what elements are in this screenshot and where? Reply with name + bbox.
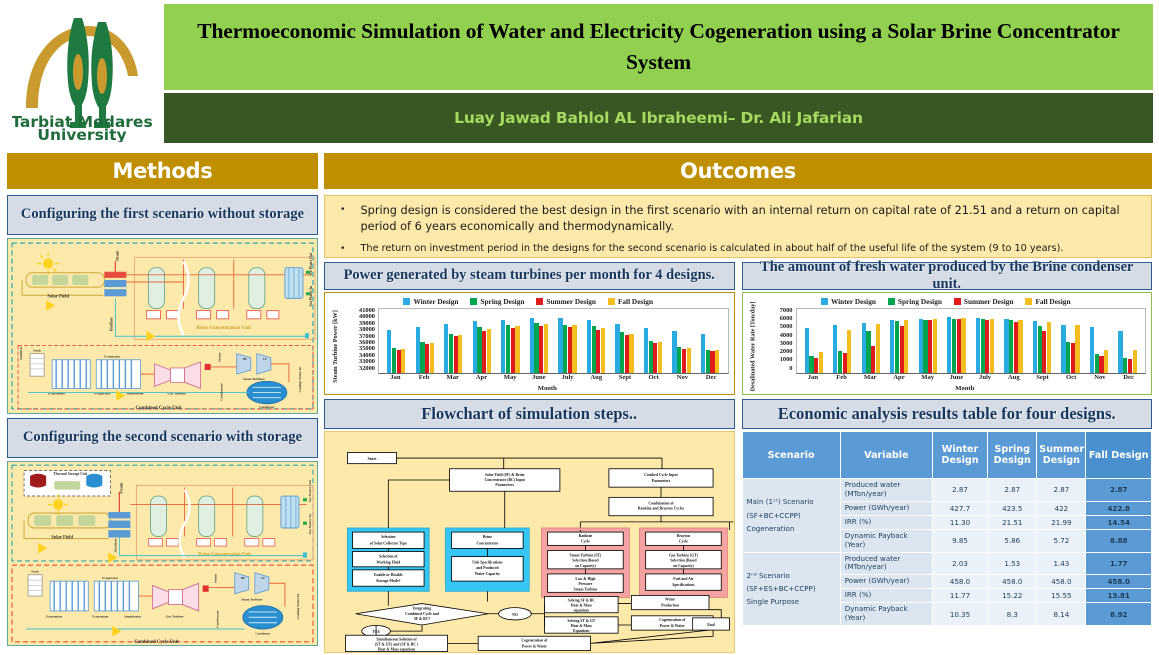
outcomes-heading: Outcomes [680, 159, 796, 183]
svg-text:Superheater: Superheater [124, 614, 141, 618]
svg-text:Gas Turbine: Gas Turbine [166, 614, 184, 618]
bar [534, 323, 538, 373]
bar [544, 324, 548, 373]
svg-text:Solving SF & BC: Solving SF & BC [568, 599, 596, 603]
bar [501, 320, 505, 373]
water-chart-title-text: The amount of fresh water produced by th… [749, 259, 1146, 293]
bar-group [672, 309, 690, 373]
svg-text:Production: Production [661, 604, 680, 608]
svg-text:Steam Turbine: Steam Turbine [574, 587, 598, 591]
svg-text:Condensate: Condensate [216, 610, 220, 628]
summer-value-cell: 8.14 [1037, 603, 1086, 626]
scenario-line: Main (1ˢᵗ) Scenario [747, 495, 836, 508]
ytick-label: 1000 [780, 357, 793, 363]
bar-group [833, 309, 851, 373]
svg-text:Sea Water In: Sea Water In [309, 286, 313, 306]
flowchart-body: .fbx { fill:#fff; stroke:#000; stroke-wi… [324, 431, 735, 653]
svg-text:Cogeneration of: Cogeneration of [521, 638, 548, 642]
spring-value-cell: 5.86 [988, 529, 1037, 552]
svg-text:Combined Cycle Unit: Combined Cycle Unit [135, 405, 181, 411]
fall-value-cell: 8.92 [1086, 603, 1152, 626]
spring-value-cell: 8.3 [988, 603, 1037, 626]
bar [425, 344, 429, 373]
xtick-label: Sept [611, 374, 640, 385]
ytick-label: 7000 [780, 308, 793, 314]
bar [701, 334, 705, 373]
xtick-label: June [942, 374, 971, 385]
bar [1047, 322, 1051, 373]
scenario-2-diagram-icon: Thermal Storage Unit Solar Field [8, 462, 317, 645]
bar [819, 352, 823, 373]
svg-text:Evaporator: Evaporator [104, 355, 121, 359]
xtick-label: Mar [438, 374, 467, 385]
bar [515, 326, 519, 373]
bar [1033, 321, 1037, 373]
svg-text:Solar Field: Solar Field [47, 294, 69, 299]
scenario-line: (SF+ES+BC+CCPP) [747, 582, 836, 595]
svg-text:Power & Water: Power & Water [522, 645, 547, 649]
svg-text:Solar Field (SF) & Brine: Solar Field (SF) & Brine [485, 473, 525, 477]
bar-group [862, 309, 880, 373]
scenario-line: 2ⁿᵈ Scenario [747, 569, 836, 582]
legend-item-1: Spring Design [470, 297, 524, 306]
winter-value-cell: 2.87 [932, 479, 987, 502]
power-chart-plotcol: JanFebMarAprMayJuneJulyAugSeptOctNovDec [378, 308, 729, 385]
svg-text:Heat & Mass: Heat & Mass [571, 624, 593, 628]
svg-text:Brine Concentration Unit: Brine Concentration Unit [198, 553, 251, 558]
water-chart-legend: Winter DesignSpring DesignSummer DesignF… [746, 296, 1147, 308]
bar [990, 319, 994, 373]
table-header-row: Scenario Variable Winter Design Spring D… [742, 432, 1152, 479]
bullet-marker-icon: • [337, 242, 345, 257]
water-chart-plot-wrap: Desalinated Water Rate [Ton/day] 7000600… [746, 308, 1147, 385]
bar [710, 351, 714, 373]
col-summer-design: Summer Design [1037, 432, 1086, 479]
summer-value-cell: 21.99 [1037, 515, 1086, 529]
ytick-label: 32000 [359, 366, 375, 372]
bar [563, 325, 567, 373]
bar-group [587, 309, 605, 373]
svg-text:Combination of: Combination of [648, 502, 674, 506]
svg-text:Parameters: Parameters [495, 483, 514, 487]
bar [392, 348, 396, 373]
bar [420, 342, 424, 373]
econ-table-title: Economic analysis results table for four… [742, 399, 1153, 429]
legend-swatch-icon [821, 298, 828, 305]
bar-group [701, 309, 719, 373]
bar [629, 334, 633, 373]
bar-group [473, 309, 491, 373]
bar [928, 320, 932, 373]
bar [890, 320, 894, 373]
summer-value-cell: 15.55 [1037, 589, 1086, 603]
col-spring-design: Spring Design [988, 432, 1037, 479]
svg-text:Stack: Stack [31, 570, 39, 574]
bar [644, 328, 648, 373]
svg-text:Solving ST & GT: Solving ST & GT [567, 619, 595, 623]
water-chart-ylabel-text: Desalinated Water Rate [Ton/day] [749, 302, 756, 392]
bar [1099, 356, 1103, 373]
poster-header: Tarbiat Modares University Thermoeconomi… [0, 0, 1159, 148]
bar [477, 327, 481, 373]
xtick-label: Nov [1086, 374, 1115, 385]
svg-text:Brine: Brine [483, 535, 492, 539]
bar-group [444, 309, 462, 373]
legend-label: Fall Design [1035, 297, 1070, 306]
variable-cell: Dynamic Payback (Year) [840, 529, 932, 552]
section-bar-methods: Methods [7, 153, 318, 189]
bar-group [919, 309, 937, 373]
svg-text:Sea Water Out: Sea Water Out [308, 479, 312, 503]
bar [876, 324, 880, 373]
svg-text:Solar Field: Solar Field [51, 536, 73, 541]
variable-cell: IRR (%) [840, 515, 932, 529]
section-bar-outcomes: Outcomes [324, 153, 1152, 189]
bar [653, 343, 657, 373]
svg-text:Equations: Equations [573, 629, 590, 633]
bar-group [1118, 309, 1136, 373]
svg-text:Thermal Storage Unit: Thermal Storage Unit [53, 472, 88, 476]
bar [947, 317, 951, 373]
svg-text:Heat & Mass: Heat & Mass [571, 604, 593, 608]
bar [900, 326, 904, 373]
svg-text:Pressure: Pressure [578, 582, 592, 586]
water-chart-ylabel: Desalinated Water Rate [Ton/day] [746, 308, 760, 385]
methods-column: Configuring the first scenario without s… [7, 195, 318, 646]
svg-text:NO: NO [512, 613, 518, 617]
bar [976, 318, 980, 373]
svg-text:Storage Mode?: Storage Mode? [376, 579, 400, 583]
svg-text:Combed Cycle Input: Combed Cycle Input [644, 473, 678, 477]
svg-text:Condenser: Condenser [255, 631, 270, 635]
col-fall-design: Fall Design [1086, 432, 1152, 479]
svg-text:Working Fluid: Working Fluid [376, 561, 401, 565]
water-chart-plot [796, 308, 1147, 374]
spring-value-cell: 458.0 [988, 575, 1037, 589]
bar [511, 328, 515, 373]
fall-value-cell: 458.0 [1086, 575, 1152, 589]
econ-table-rows: Main (1ˢᵗ) Scenario(SF+BC+CCPP)Cogenerat… [742, 479, 1152, 626]
svg-text:Distillate: Distillate [109, 317, 113, 331]
bar [587, 320, 591, 373]
bar-group [615, 309, 633, 373]
bar [658, 342, 662, 373]
svg-text:on Capacity): on Capacity) [673, 564, 694, 568]
ytick-label: 4000 [780, 333, 793, 339]
water-chart-xlabels: JanFebMarAprMayJuneJulyAugSeptOctNovDec [796, 374, 1147, 385]
xtick-label: Apr [885, 374, 914, 385]
svg-text:Brine Concentration Unit: Brine Concentration Unit [196, 325, 251, 331]
svg-text:SF & BC?: SF & BC? [414, 617, 431, 621]
title-stack: Thermoeconomic Simulation of Water and E… [158, 4, 1153, 148]
outcomes-bullet-list: • Spring design is considered the best d… [324, 195, 1152, 258]
xtick-label: Mar [856, 374, 885, 385]
svg-text:Steam: Steam [114, 250, 119, 262]
bar [449, 334, 453, 373]
water-chart-area: Winter DesignSpring DesignSummer DesignF… [742, 292, 1153, 395]
ytick-label: 0 [789, 366, 792, 372]
bar [1095, 354, 1099, 373]
svg-text:Selection: Selection [381, 535, 396, 539]
legend-swatch-icon [403, 298, 410, 305]
winter-value-cell: 427.7 [932, 501, 987, 515]
econ-table-body: Scenario Variable Winter Design Spring D… [742, 431, 1153, 653]
svg-text:Distillate: Distillate [19, 346, 23, 360]
winter-value-cell: 2.03 [932, 552, 987, 575]
methods-panel-2-title-text: Configuring the second scenario with sto… [23, 429, 302, 446]
xtick-label: Oct [639, 374, 668, 385]
svg-text:LP: LP [261, 576, 265, 580]
scenario-cell: Main (1ˢᵗ) Scenario(SF+BC+CCPP)Cogenerat… [742, 479, 840, 552]
bar [677, 347, 681, 373]
scenario-1-diagram-icon: Solar Field Steam [8, 239, 317, 413]
bar [715, 350, 719, 373]
bar [1066, 342, 1070, 373]
power-chart-ylabel-text: Steam Turbine Power [kW] [332, 310, 339, 383]
variable-cell: Power (GWh/year) [840, 575, 932, 589]
ytick-label: 3000 [780, 341, 793, 347]
bar-group [558, 309, 576, 373]
xtick-label: Feb [410, 374, 439, 385]
variable-cell: IRR (%) [840, 589, 932, 603]
legend-label: Fall Design [618, 297, 653, 306]
scenario-1-schematic: Solar Field Steam [7, 238, 318, 414]
svg-text:Economizer: Economizer [92, 614, 109, 618]
legend-label: Summer Design [964, 297, 1014, 306]
bar [430, 343, 434, 373]
svg-text:Economizer: Economizer [46, 614, 63, 618]
poster-root: Tarbiat Modares University Thermoeconomi… [0, 0, 1159, 655]
bar-group [501, 309, 519, 373]
svg-text:Steam Turbines: Steam Turbines [243, 377, 266, 381]
svg-text:Concentrator (BC) Input: Concentrator (BC) Input [485, 478, 526, 482]
spring-value-cell: 15.22 [988, 589, 1037, 603]
bar [601, 328, 605, 374]
svg-text:(ST & GT) and (SF & BC ): (ST & GT) and (SF & BC ) [375, 642, 419, 646]
poster-title-bar: Thermoeconomic Simulation of Water and E… [164, 4, 1153, 90]
legend-item-3: Fall Design [1025, 297, 1070, 306]
bullet-marker-icon: • [337, 203, 345, 235]
table-row: 2ⁿᵈ Scenario(SF+ES+BC+CCPP)Single Purpos… [742, 552, 1152, 575]
svg-text:Water Capacity: Water Capacity [475, 572, 500, 576]
svg-text:Cycle: Cycle [581, 539, 590, 543]
power-chart-ylabel: Steam Turbine Power [kW] [328, 308, 342, 385]
svg-text:Cogeneration of: Cogeneration of [659, 618, 686, 622]
svg-text:Rankine and Brayton Cycles: Rankine and Brayton Cycles [638, 507, 685, 511]
bar [961, 318, 965, 373]
bar [847, 330, 851, 373]
svg-text:Simultaneous Solution of: Simultaneous Solution of [376, 637, 417, 641]
methods-panel-1-title: Configuring the first scenario without s… [7, 195, 318, 235]
svg-text:Selection (Based: Selection (Based [572, 559, 599, 563]
bar [444, 324, 448, 373]
legend-swatch-icon [608, 298, 615, 305]
xtick-label: July [971, 374, 1000, 385]
bar [568, 327, 572, 373]
legend-label: Winter Design [831, 297, 876, 306]
svg-text:HP: HP [241, 576, 245, 580]
bar [649, 341, 653, 373]
col-winter-design: Winter Design [932, 432, 987, 479]
bar-group [947, 309, 965, 373]
legend-swatch-icon [536, 298, 543, 305]
water-chart-card: The amount of fresh water produced by th… [742, 262, 1153, 395]
svg-text:Integrating: Integrating [413, 607, 431, 611]
legend-item-3: Fall Design [608, 297, 653, 306]
tarbiat-modares-logo-icon: Tarbiat Modares University [12, 10, 152, 142]
col-scenario: Scenario [742, 432, 840, 479]
outcomes-column: • Spring design is considered the best d… [324, 195, 1152, 646]
svg-text:Selection (Based: Selection (Based [670, 559, 697, 563]
summer-value-cell: 1.43 [1037, 552, 1086, 575]
page-title: Thermoeconomic Simulation of Water and E… [182, 16, 1135, 77]
bar [1118, 331, 1122, 373]
bar [615, 324, 619, 373]
svg-text:Evaporator: Evaporator [102, 576, 118, 580]
svg-text:Specifications: Specifications [672, 583, 695, 587]
svg-text:Brayton: Brayton [677, 534, 691, 538]
bar [1090, 327, 1094, 373]
svg-text:on Capacity): on Capacity) [575, 564, 596, 568]
section-header-row: Methods Outcomes [0, 148, 1159, 192]
bar-group [416, 309, 434, 373]
svg-text:Heat & Mass equations: Heat & Mass equations [378, 648, 416, 652]
scenario-cell: 2ⁿᵈ Scenario(SF+ES+BC+CCPP)Single Purpos… [742, 552, 840, 625]
water-chart-yticks: 70006000500040003000200010000 [760, 308, 796, 385]
svg-text:Steam: Steam [118, 482, 123, 494]
bar [1014, 322, 1018, 373]
bar [672, 331, 676, 374]
xtick-label: May [496, 374, 525, 385]
xtick-label: July [553, 374, 582, 385]
variable-cell: Produced water (MTon/year) [840, 552, 932, 575]
bar-group [1004, 309, 1022, 373]
fall-value-cell: 8.88 [1086, 529, 1152, 552]
bar [458, 335, 462, 373]
svg-text:Rankine: Rankine [579, 534, 593, 538]
bar [539, 326, 543, 373]
variable-cell: Produced water (MTon/year) [840, 479, 932, 502]
winter-value-cell: 11.30 [932, 515, 987, 529]
bar [866, 331, 870, 373]
legend-item-0: Winter Design [403, 297, 458, 306]
scenario-line: Single Purpose [747, 595, 836, 608]
svg-text:Concentrator: Concentrator [477, 541, 499, 545]
bar [1071, 343, 1075, 374]
scenario-line: (SF+BC+CCPP) [747, 509, 836, 522]
fall-value-cell: 422.8 [1086, 501, 1152, 515]
bar [1075, 325, 1079, 373]
legend-item-1: Spring Design [888, 297, 942, 306]
bar [904, 320, 908, 373]
spring-value-cell: 423.5 [988, 501, 1037, 515]
power-chart-card: Power generated by steam turbines per mo… [324, 262, 735, 395]
methods-heading: Methods [113, 159, 213, 183]
author-names: Luay Jawad Bahlol AL Ibraheemi– Dr. Ali … [454, 109, 863, 127]
svg-text:Distillate: Distillate [113, 538, 117, 552]
svg-text:HP: HP [243, 357, 247, 361]
svg-text:Start: Start [367, 456, 377, 461]
summer-value-cell: 458.0 [1037, 575, 1086, 589]
svg-text:Steam: Steam [214, 574, 218, 584]
bar [952, 319, 956, 374]
winter-value-cell: 11.77 [932, 589, 987, 603]
svg-text:Steam Turbines: Steam Turbines [241, 597, 263, 601]
bar [1104, 350, 1108, 373]
fall-value-cell: 13.81 [1086, 589, 1152, 603]
svg-text:Sea Water Out: Sea Water Out [309, 252, 313, 276]
flowchart-card: Flowchart of simulation steps.. .fbx { f… [324, 399, 735, 653]
legend-label: Winter Design [413, 297, 458, 306]
xtick-label: Aug [582, 374, 611, 385]
bar [558, 318, 562, 373]
svg-text:Sea Water In: Sea Water In [308, 514, 312, 534]
bar [981, 319, 985, 373]
bar [572, 325, 576, 373]
xtick-label: May [913, 374, 942, 385]
bar [985, 320, 989, 374]
summer-value-cell: 422 [1037, 501, 1086, 515]
ytick-label: 6000 [780, 316, 793, 322]
legend-item-2: Summer Design [536, 297, 596, 306]
econ-table-title-text: Economic analysis results table for four… [778, 404, 1116, 423]
bar [592, 326, 596, 373]
bar [1009, 320, 1013, 373]
bar [871, 346, 875, 373]
power-chart-plot-wrap: Steam Turbine Power [kW] 410004000039000… [328, 308, 729, 385]
svg-text:and Produced: and Produced [476, 566, 499, 570]
outcome-bullet-1: • Spring design is considered the best d… [337, 203, 1139, 235]
poster-columns: Configuring the first scenario without s… [0, 192, 1159, 650]
xtick-label: Dec [1114, 374, 1143, 385]
svg-text:Fuel and Air: Fuel and Air [673, 577, 694, 581]
winter-value-cell: 9.85 [932, 529, 987, 552]
bar [814, 358, 818, 373]
svg-text:Low & High: Low & High [575, 577, 596, 581]
bar [620, 332, 624, 373]
logo-line2: University [37, 126, 126, 142]
bar-group [387, 309, 405, 373]
power-chart-xlabels: JanFebMarAprMayJuneJulyAugSeptOctNovDec [378, 374, 729, 385]
xtick-label: June [525, 374, 554, 385]
bar [397, 350, 401, 373]
spring-value-cell: 21.51 [988, 515, 1037, 529]
flowchart-title-text: Flowchart of simulation steps.. [421, 404, 637, 423]
bar-group [530, 309, 548, 373]
summer-value-cell: 5.72 [1037, 529, 1086, 552]
svg-text:Steam Turbine (ST): Steam Turbine (ST) [570, 554, 603, 558]
water-chart-plotcol: JanFebMarAprMayJuneJulyAugSeptOctNovDec [796, 308, 1147, 385]
bar [682, 349, 686, 373]
bar-group [644, 309, 662, 373]
methods-panel-1: Configuring the first scenario without s… [7, 195, 318, 414]
summer-value-cell: 2.87 [1037, 479, 1086, 502]
legend-label: Summer Design [546, 297, 596, 306]
legend-swatch-icon [888, 298, 895, 305]
bar [843, 353, 847, 373]
svg-text:Stack: Stack [33, 349, 41, 353]
bar-group [890, 309, 908, 373]
svg-text:Power & Water: Power & Water [660, 624, 685, 628]
water-chart-title: The amount of fresh water produced by th… [742, 262, 1153, 290]
legend-swatch-icon [1025, 298, 1032, 305]
bar-group [976, 309, 994, 373]
svg-text:Unit Specifications: Unit Specifications [472, 561, 503, 565]
bar-group [1061, 309, 1079, 373]
svg-text:Cooling Water In: Cooling Water In [296, 593, 300, 619]
legend-item-0: Winter Design [821, 297, 876, 306]
xtick-label: Apr [467, 374, 496, 385]
